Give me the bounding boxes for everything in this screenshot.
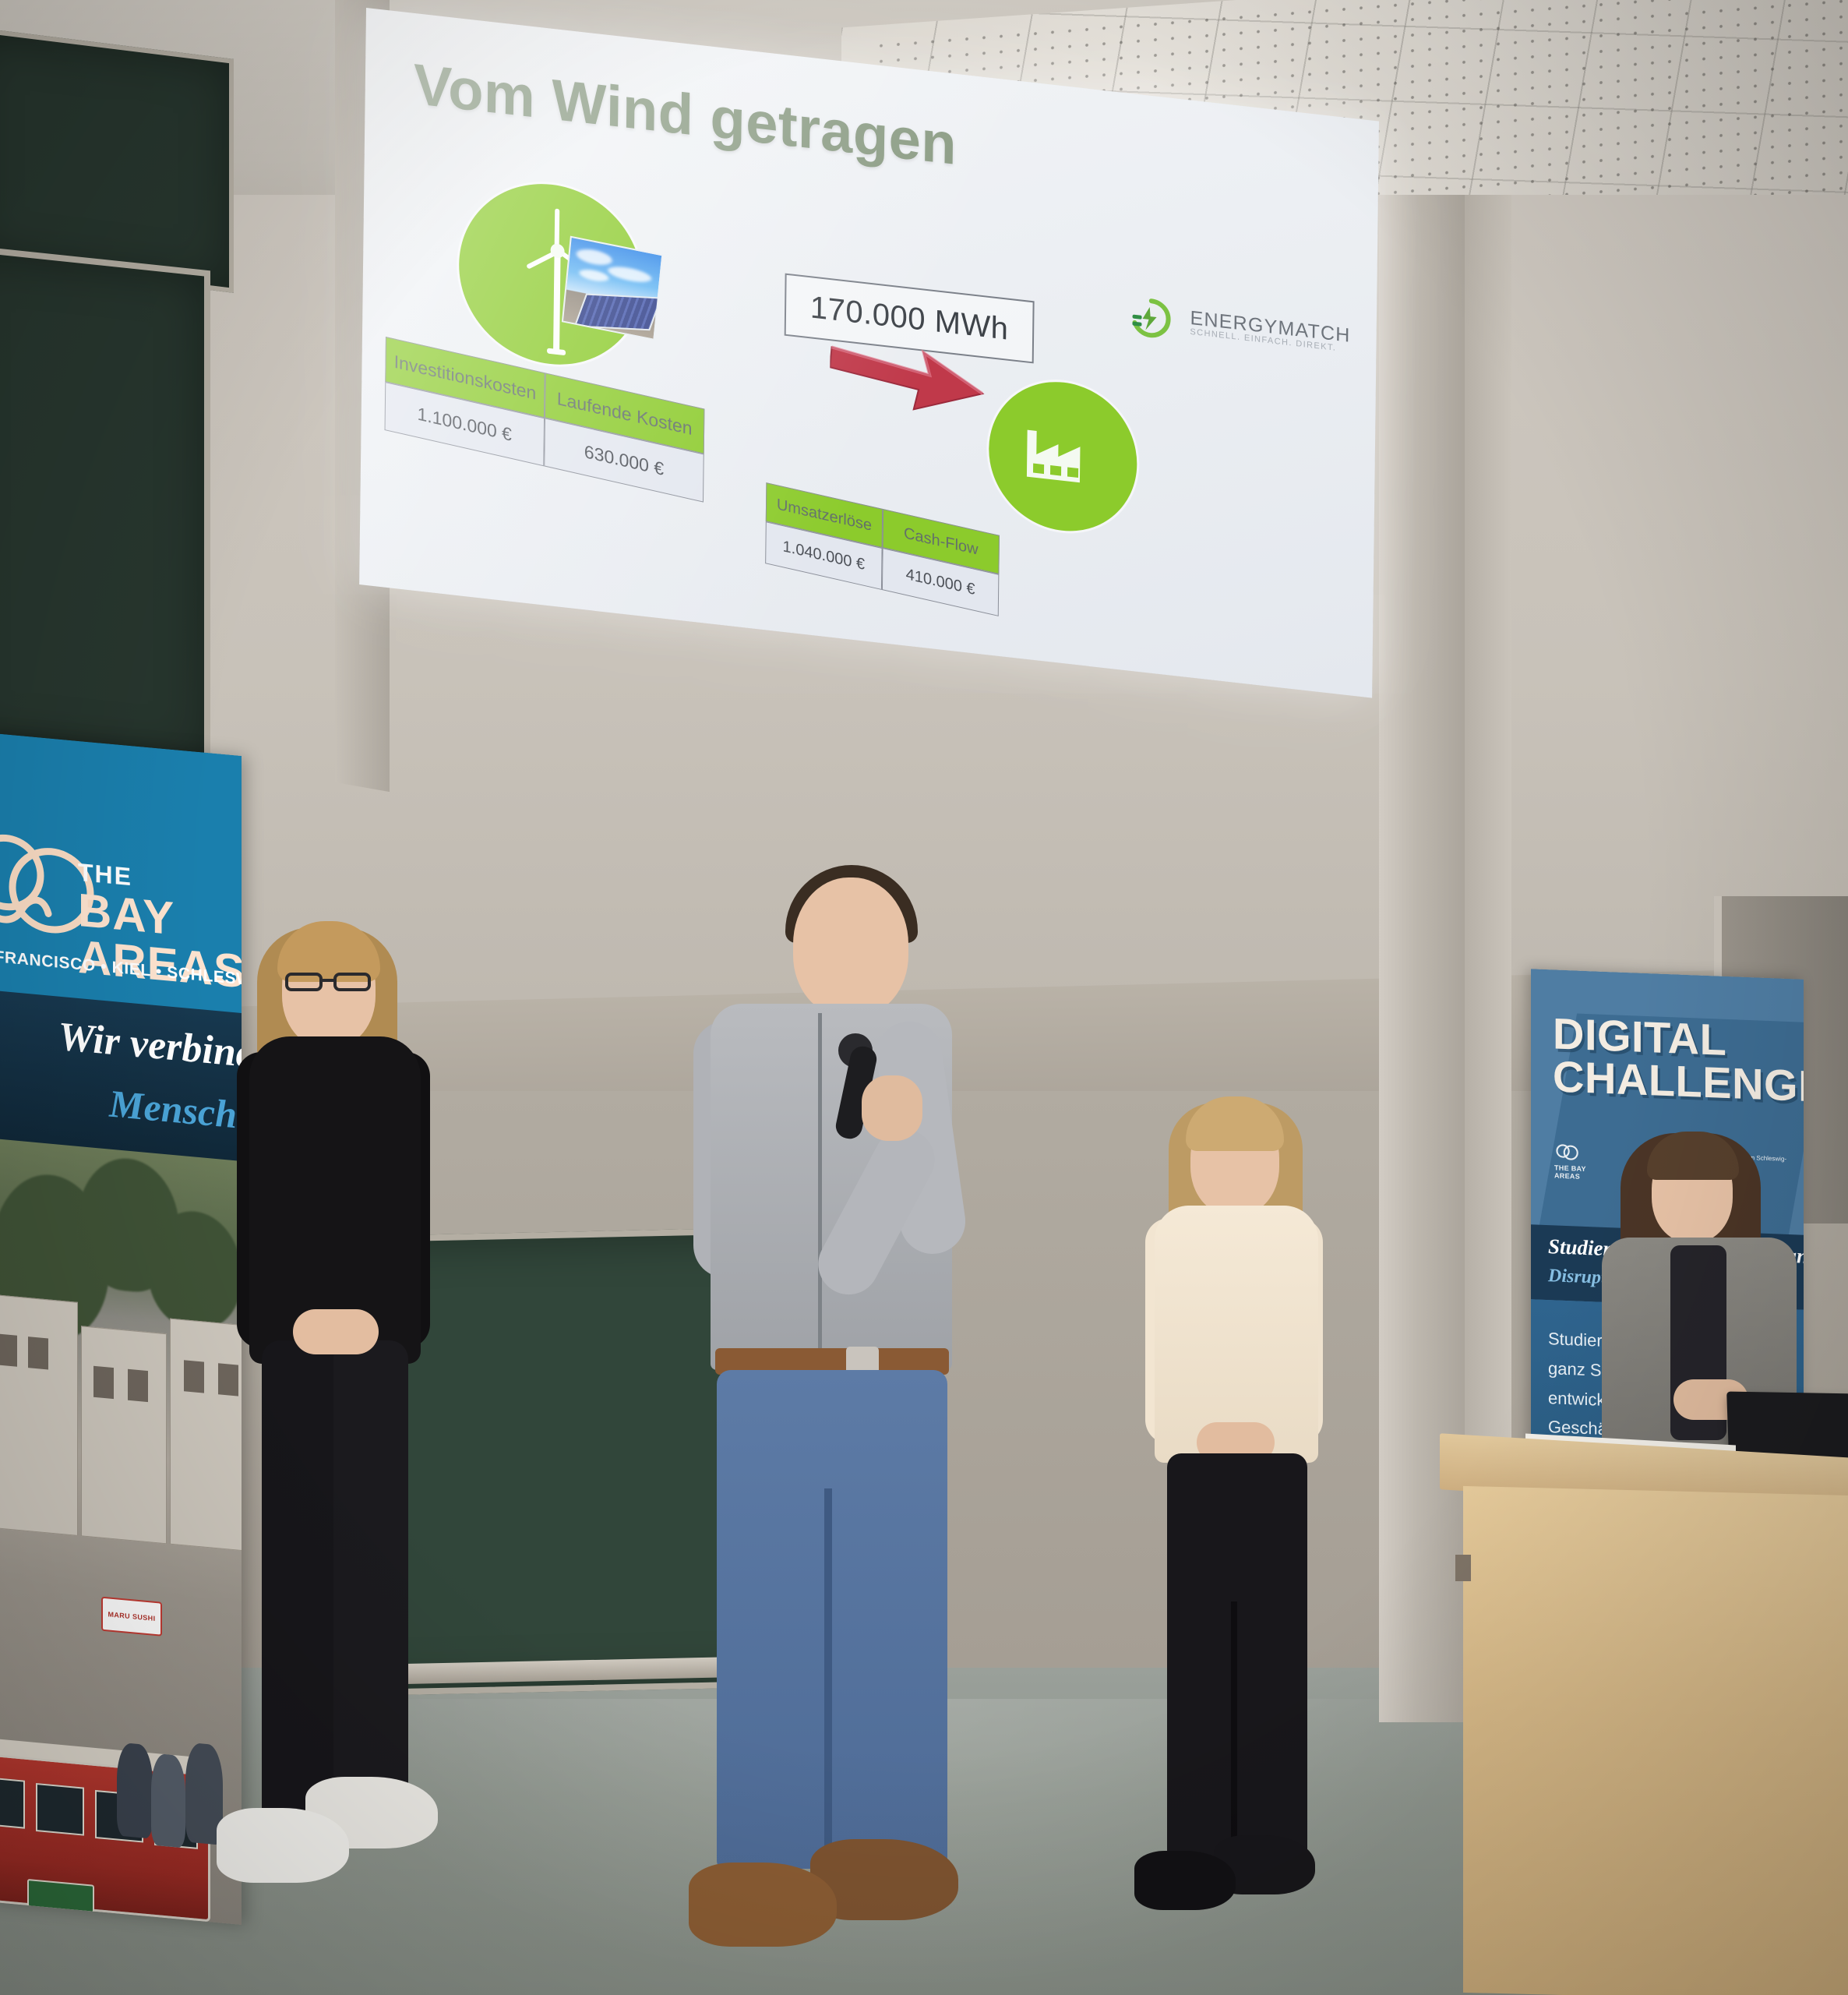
legs-inseam	[1231, 1601, 1237, 1866]
bay-areas-banner: THE BAY AREAS SAN FRANCISCO • KIEL • SCH…	[0, 733, 242, 1925]
hands	[293, 1309, 379, 1354]
legs	[1167, 1453, 1307, 1866]
chalkboard-left	[0, 244, 210, 770]
hand-holding-microphone	[862, 1075, 922, 1141]
dc-title: DIGITAL CHALLENGE	[1553, 1012, 1804, 1107]
shirt-placket	[818, 1013, 822, 1348]
shoe-left	[1134, 1851, 1236, 1910]
glasses-icon	[285, 971, 372, 991]
logo-divider	[1180, 302, 1181, 340]
leg-left	[262, 1340, 337, 1824]
bay-areas-loops-icon-small	[1554, 1142, 1581, 1160]
head	[793, 877, 908, 1016]
person-speaker-center	[693, 865, 1021, 1995]
energymatch-logo: ENERGYMATCH SCHNELL. EINFACH. DIREKT.	[1130, 288, 1310, 363]
dc-title-line2: CHALLENGE	[1553, 1055, 1804, 1108]
slide-title: Vom Wind getragen	[413, 51, 957, 178]
wooden-lectern	[1440, 1446, 1848, 1995]
jeans-inseam	[824, 1488, 832, 1870]
shoe-left	[689, 1863, 837, 1947]
shop-sign: MARU SUSHI	[101, 1597, 162, 1637]
factory-icon	[1022, 417, 1101, 494]
projected-slide: Vom Wind getragen 170.000 MWh	[359, 8, 1379, 698]
jeans	[717, 1370, 947, 1869]
solar-panel-photo	[562, 236, 664, 341]
lectern-front-panel	[1463, 1486, 1848, 1995]
bay-city-photo: MARU SUSHI 25	[0, 1138, 242, 1925]
presentation-scene: Vom Wind getragen 170.000 MWh	[0, 0, 1848, 1995]
person-presenter-left	[234, 904, 514, 1995]
leg-right	[333, 1340, 408, 1824]
person-presenter-right	[1145, 1087, 1379, 1995]
plug-leaf-bolt-icon	[1130, 295, 1172, 341]
shoe-left	[217, 1808, 349, 1883]
revenue-table: Umsatzerlöse Cash-Flow 1.040.000 € 410.0…	[765, 482, 1000, 616]
lectern-handle	[1455, 1555, 1471, 1581]
